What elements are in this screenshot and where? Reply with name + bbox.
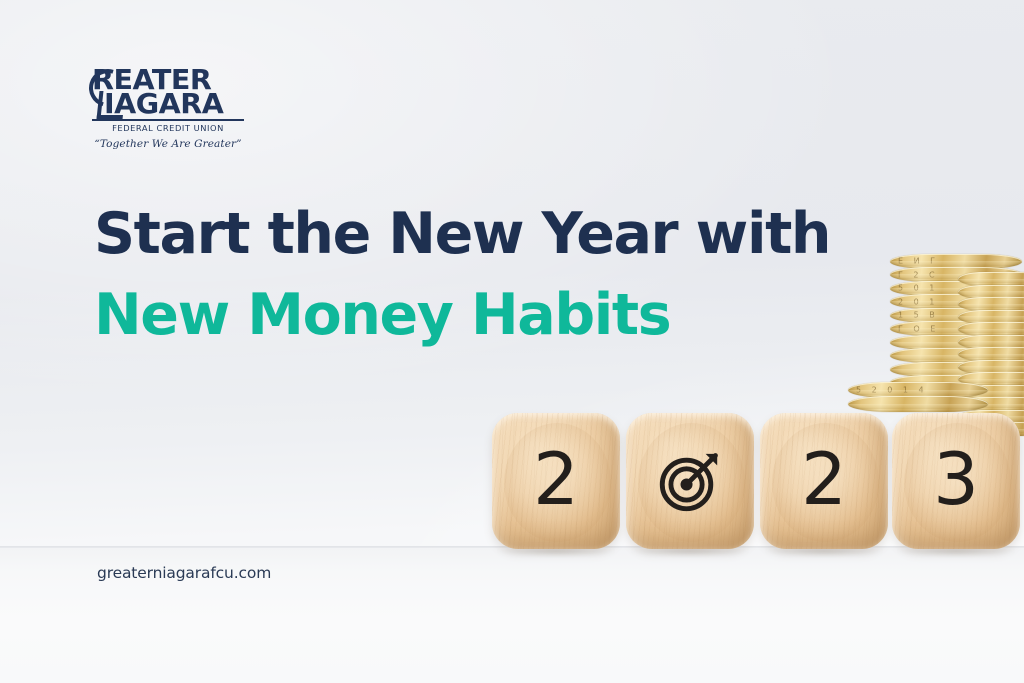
coin bbox=[958, 347, 1024, 361]
block-digit: 2 bbox=[760, 413, 888, 549]
logo-tagline: “Together We Are Greater” bbox=[92, 138, 244, 150]
block-digit: 2 bbox=[492, 413, 620, 549]
brand-logo[interactable]: REATER IAGARA FEDERAL CREDIT UNION “Toge… bbox=[92, 68, 244, 150]
target-arrow-icon bbox=[626, 413, 754, 549]
wooden-block-2-second: 2 bbox=[760, 413, 888, 549]
coin-edge-mark: 5 2 0 1 4 bbox=[856, 386, 928, 395]
wooden-block-target bbox=[626, 413, 754, 549]
marketing-banner: Е И Г Г 2 С 5 0 1 2 0 1 1 5 В Г О Е bbox=[0, 0, 1024, 683]
coin-edge-mark: Г О Е bbox=[898, 324, 939, 333]
coin-edge-mark: Е И Г bbox=[898, 257, 939, 266]
coin bbox=[848, 396, 988, 412]
coin-edge-mark: 5 0 1 bbox=[898, 284, 938, 293]
logo-subtitle: FEDERAL CREDIT UNION bbox=[92, 123, 244, 133]
coin-edge-mark: Г 2 С bbox=[898, 270, 939, 279]
wooden-block-3: 3 bbox=[892, 413, 1020, 549]
coin-edge-mark: 2 0 1 bbox=[898, 297, 938, 306]
website-url[interactable]: greaterniagarafcu.com bbox=[97, 564, 271, 582]
page-title: Start the New Year with New Money Habits bbox=[94, 206, 894, 344]
headline-line-2: New Money Habits bbox=[94, 287, 894, 344]
block-digit: 3 bbox=[892, 413, 1020, 549]
logo-line-niagara: IAGARA bbox=[104, 92, 247, 116]
wooden-dice-blocks: 2 2 3 bbox=[492, 413, 1024, 553]
coin bbox=[958, 322, 1024, 336]
coin-edge-mark: 1 5 В bbox=[898, 311, 939, 320]
coin-stack-front: 5 2 0 1 4 bbox=[848, 384, 988, 412]
headline-line-1: Start the New Year with bbox=[94, 206, 894, 263]
coin bbox=[958, 297, 1024, 311]
wooden-block-2-first: 2 bbox=[492, 413, 620, 549]
coin bbox=[958, 272, 1024, 286]
logo-wordmark: REATER IAGARA bbox=[92, 68, 244, 116]
